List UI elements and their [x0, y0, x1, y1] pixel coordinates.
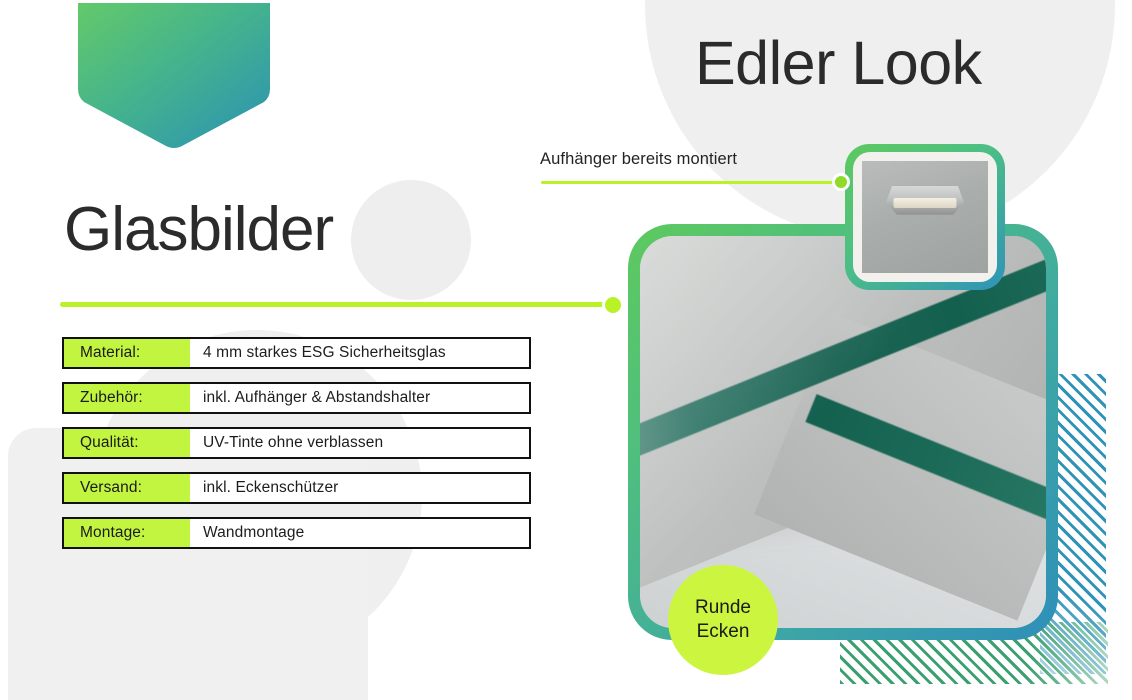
spec-value: 4 mm starkes ESG Sicherheitsglas — [190, 339, 529, 367]
spec-value: inkl. Aufhänger & Abstandshalter — [190, 384, 529, 412]
hanger-inset-mat — [853, 152, 997, 282]
table-row: Material: 4 mm starkes ESG Sicherheitsgl… — [62, 337, 531, 369]
table-row: Versand: inkl. Eckenschützer — [62, 472, 531, 504]
callout-label: Aufhänger bereits montiert — [540, 150, 737, 169]
callout-dot — [832, 173, 850, 191]
hanger-bracket-photo — [862, 161, 988, 273]
spec-table: Material: 4 mm starkes ESG Sicherheitsgl… — [62, 337, 531, 562]
badge-line-2: Ecken — [697, 620, 750, 644]
spec-label: Material: — [64, 339, 190, 367]
runde-ecken-badge: Runde Ecken — [668, 565, 778, 675]
table-row: Zubehör: inkl. Aufhänger & Abstandshalte… — [62, 382, 531, 414]
title-accent-dot — [602, 294, 624, 316]
spec-value: inkl. Eckenschützer — [190, 474, 529, 502]
spec-label: Qualität: — [64, 429, 190, 457]
hanger-detail-inset — [845, 144, 1005, 290]
spec-label: Versand: — [64, 474, 190, 502]
page-title: Glasbilder — [64, 196, 333, 264]
table-row: Qualität: UV-Tinte ohne verblassen — [62, 427, 531, 459]
section-heading-edler-look: Edler Look — [695, 28, 982, 98]
callout-rule — [541, 181, 843, 184]
infographic-canvas: Edler Look Glasbilder Material: 4 mm sta… — [0, 0, 1132, 700]
decorative-circle-behind-title — [351, 180, 471, 300]
spec-value: Wandmontage — [190, 519, 529, 547]
spec-value: UV-Tinte ohne verblassen — [190, 429, 529, 457]
spec-label: Zubehör: — [64, 384, 190, 412]
shield-badge-icon — [78, 3, 270, 149]
spec-label: Montage: — [64, 519, 190, 547]
table-row: Montage: Wandmontage — [62, 517, 531, 549]
badge-line-1: Runde — [695, 596, 751, 620]
title-accent-rule — [60, 302, 610, 307]
